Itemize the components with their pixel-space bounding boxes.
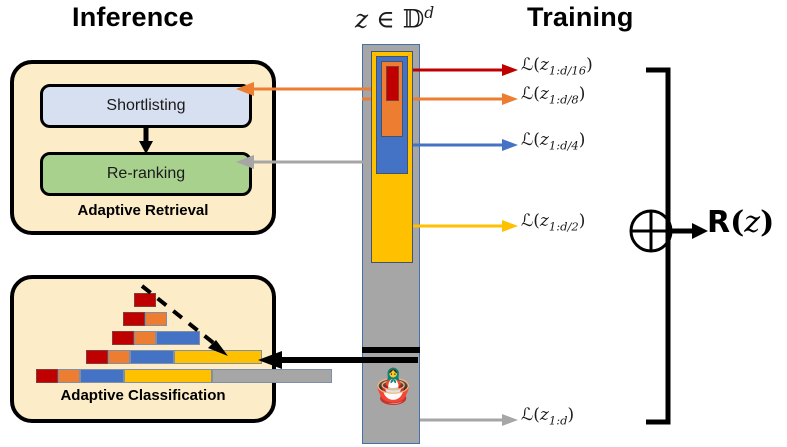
page-title-inference: Inference: [72, 2, 194, 33]
latent-space-label: z ∈ 𝔻d: [355, 4, 434, 33]
diagram-canvas: Inference Training z ∈ 𝔻d Shortlisting R…: [0, 0, 787, 447]
loss-label-d8: ℒ(z1:d/8): [521, 84, 585, 106]
page-title-training: Training: [527, 2, 634, 33]
segment-yellow: [124, 369, 212, 383]
classification-feedback-stub: [362, 347, 420, 353]
final-loss-arrow-icon: [672, 222, 708, 245]
loss-arrow-d16: [400, 63, 518, 77]
reranking-box[interactable]: Re-ranking: [40, 152, 252, 196]
segment-red: [112, 331, 134, 345]
segment-red: [86, 350, 108, 364]
loss-arrow-d: [420, 413, 518, 427]
shortlisting-box[interactable]: Shortlisting: [40, 84, 252, 128]
final-loss-label: 𝗥(z): [707, 205, 774, 240]
loss-label-d16: ℒ(z1:d/16): [521, 55, 593, 77]
reranking-feedback-arrow: [236, 155, 364, 174]
aggregation-operator: [628, 208, 674, 259]
adaptive-retrieval-caption: Adaptive Retrieval: [14, 202, 272, 219]
segment-orange: [108, 350, 130, 364]
embedding-column: 🪆: [362, 44, 420, 444]
loss-label-d: ℒ(z1:d): [521, 405, 574, 427]
dashed-arrow-icon: [138, 282, 234, 367]
loss-label-d2: ℒ(z1:d/2): [521, 211, 585, 233]
segment-orange: [58, 369, 80, 383]
bar-granularity-d-16: [386, 66, 399, 101]
shortlisting-label: Shortlisting: [106, 97, 185, 115]
reranking-label: Re-ranking: [107, 165, 185, 183]
matryoshka-doll-icon: 🪆: [372, 367, 412, 407]
segment-blue: [80, 369, 124, 383]
adaptive-classification-caption: Adaptive Classification: [14, 387, 272, 404]
loss-label-d4: ℒ(z1:d/4): [521, 130, 585, 152]
segment-red: [36, 369, 58, 383]
down-arrow-icon: [139, 128, 153, 154]
